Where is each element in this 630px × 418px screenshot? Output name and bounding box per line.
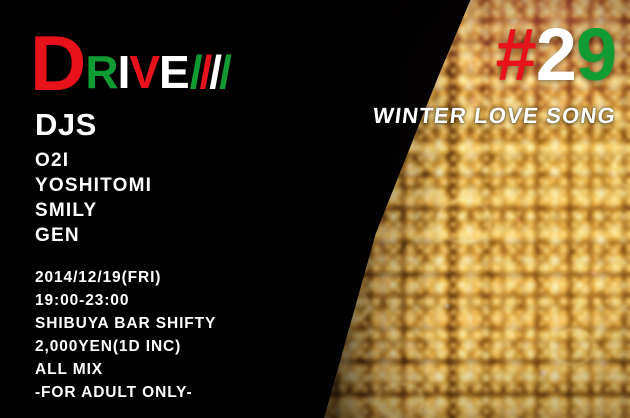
logo-letter-d: D: [30, 24, 84, 102]
event-date: 2014/12/19(FRI): [35, 266, 216, 289]
logo-slash-3: /: [209, 46, 219, 98]
logo-letter-e: E: [159, 46, 189, 98]
drive-logo: D RIVE ////: [30, 24, 229, 102]
event-venue: SHIBUYA BAR SHIFTY: [35, 312, 216, 335]
logo-slash-4: /: [219, 46, 229, 98]
flyer-poster: D RIVE //// DJS O2I YOSHITOMI SMILY GEN …: [0, 0, 630, 418]
edition-hash-symbol: #: [496, 13, 536, 96]
event-time: 19:00-23:00: [35, 289, 216, 312]
logo-slashes: ////: [190, 49, 229, 95]
dj-name-1: O2I: [35, 148, 152, 173]
dj-name-2: YOSHITOMI: [35, 173, 152, 198]
edition-number: #29: [496, 18, 616, 92]
edition-digit-nine: 9: [576, 13, 616, 96]
logo-letter-i: I: [118, 46, 130, 98]
dj-name-4: GEN: [35, 223, 152, 248]
djs-heading: DJS: [35, 109, 97, 140]
event-subtitle: WINTER LOVE SONG: [372, 103, 618, 129]
logo-letter-r: R: [85, 46, 117, 98]
logo-letter-v: V: [129, 46, 159, 98]
edition-digit-two: 2: [536, 13, 576, 96]
event-price: 2,000YEN(1D INC): [35, 335, 216, 358]
event-genre: ALL MIX: [35, 358, 216, 381]
event-restriction: -FOR ADULT ONLY-: [35, 381, 216, 404]
logo-slash-2: /: [200, 46, 210, 98]
logo-slash-1: /: [190, 46, 200, 98]
dj-name-3: SMILY: [35, 198, 152, 223]
event-details: 2014/12/19(FRI) 19:00-23:00 SHIBUYA BAR …: [35, 266, 216, 404]
dj-lineup-list: O2I YOSHITOMI SMILY GEN: [35, 148, 152, 248]
